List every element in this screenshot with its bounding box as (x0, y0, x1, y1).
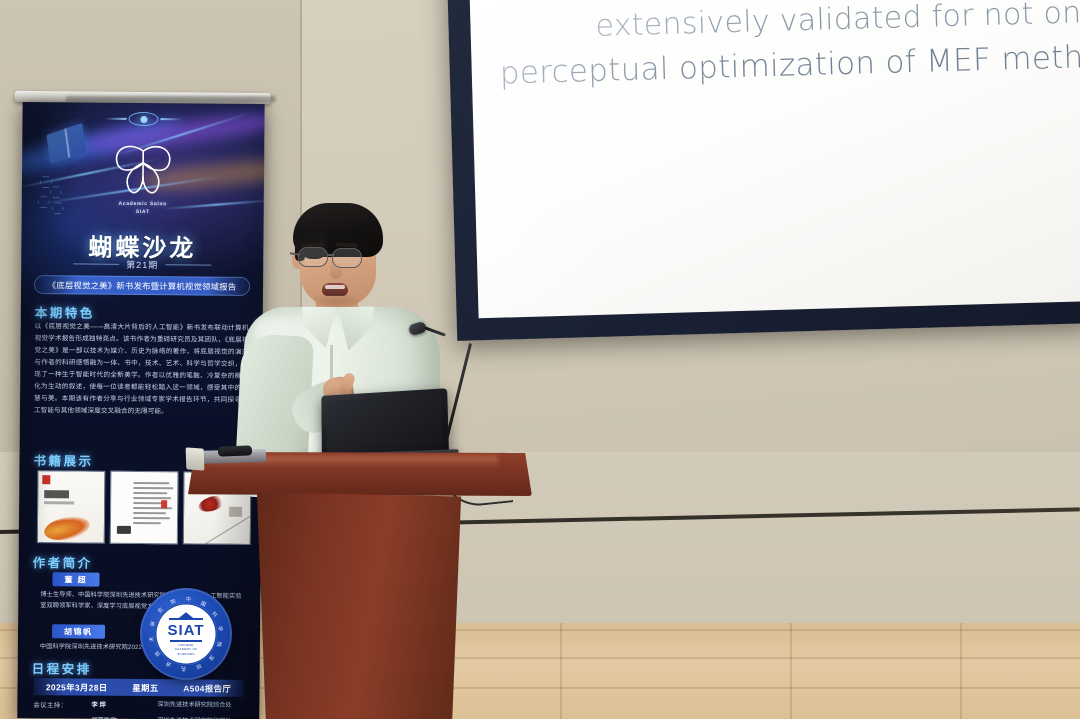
slide-text-block: extensively validated for not on percept… (470, 0, 1080, 92)
book-cover-thumb (37, 470, 106, 544)
podium-front-panel (248, 492, 470, 719)
poster-issue-number: 第21期 (126, 258, 158, 271)
poster-issue-row: 第21期 (21, 257, 263, 272)
siat-roof-icon (169, 612, 203, 622)
section-heading-books: 书籍展示 (33, 450, 93, 470)
section-heading-features: 本期特色 (35, 302, 95, 322)
podium-desk-device (218, 445, 252, 456)
section-body-features: 以《底层视觉之美——高清大片背后的人工智能》新书发布联动计算机视觉学术报告形成独… (34, 321, 249, 419)
siat-chinese-ring: 中国科学院深圳先进技术研究院 (140, 588, 232, 680)
host-name: 李 烨 (91, 700, 157, 712)
speaker-nose (330, 261, 342, 279)
lecture-scene-photo: extensively validated for not on percept… (0, 0, 1080, 719)
poster-brand-en: Academic Salon SIAT (22, 200, 264, 217)
projection-screen-frame: extensively validated for not on percept… (447, 0, 1080, 341)
podium-left-lip (186, 447, 205, 470)
poster-subtitle-pill: 《底层视觉之美》新书发布暨计算机视觉领域报告 (34, 275, 250, 296)
schedule-date: 2025年3月28日 (46, 681, 108, 694)
podium-shadow-band (66, 96, 276, 102)
section-heading-authors: 作者简介 (33, 552, 93, 572)
lectern-podium (188, 452, 532, 719)
slide-line-1: extensively validated for not on (532, 0, 1080, 46)
projection-screen: extensively validated for not on percept… (469, 0, 1080, 318)
author-name-badge-1: 董 超 (52, 572, 99, 586)
section-heading-schedule: 日程安排 (32, 658, 92, 678)
orbit-icon (128, 112, 158, 126)
slide-line-2: perceptual optimization of MEF methods (499, 38, 1080, 91)
schedule-weekday: 星期五 (132, 681, 158, 693)
poster-subtitle: 《底层视觉之美》新书发布暨计算机视觉领域报告 (48, 279, 237, 293)
host-label: 会议主持： (33, 699, 91, 710)
siat-logo-icon: 中国科学院深圳先进技术研究院 SIAT CHINESE ACADEMY OF S… (140, 588, 232, 680)
speaker-chin-shadow (314, 295, 358, 307)
butterfly-logo-icon (107, 139, 180, 202)
row-role-speaker: 领导致辞 郑宇锋 (91, 716, 157, 719)
author-name-badge-2: 胡锦帆 (52, 624, 105, 638)
book-pages-thumb (110, 471, 179, 545)
